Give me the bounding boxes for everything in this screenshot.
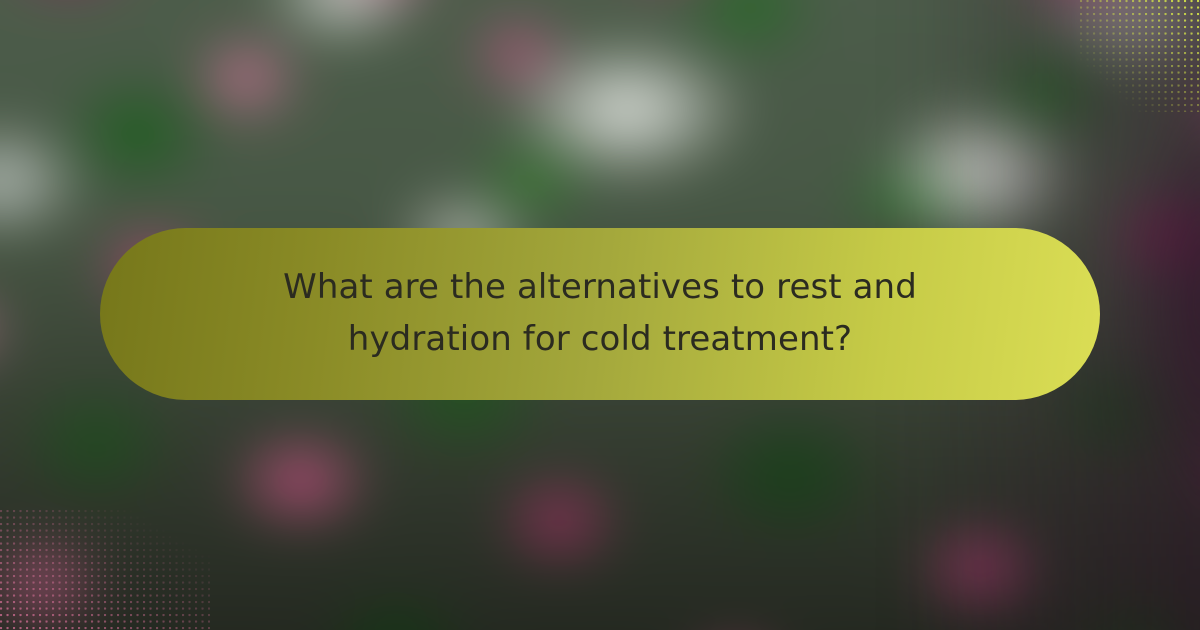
dot-grid-bottom-left-decoration: [0, 510, 210, 630]
screenshot-canvas: What are the alternatives to rest and hy…: [0, 0, 1200, 630]
question-text: What are the alternatives to rest and hy…: [283, 262, 917, 365]
question-pill-card: What are the alternatives to rest and hy…: [100, 228, 1100, 400]
dot-grid-top-right-decoration: [1080, 0, 1200, 112]
